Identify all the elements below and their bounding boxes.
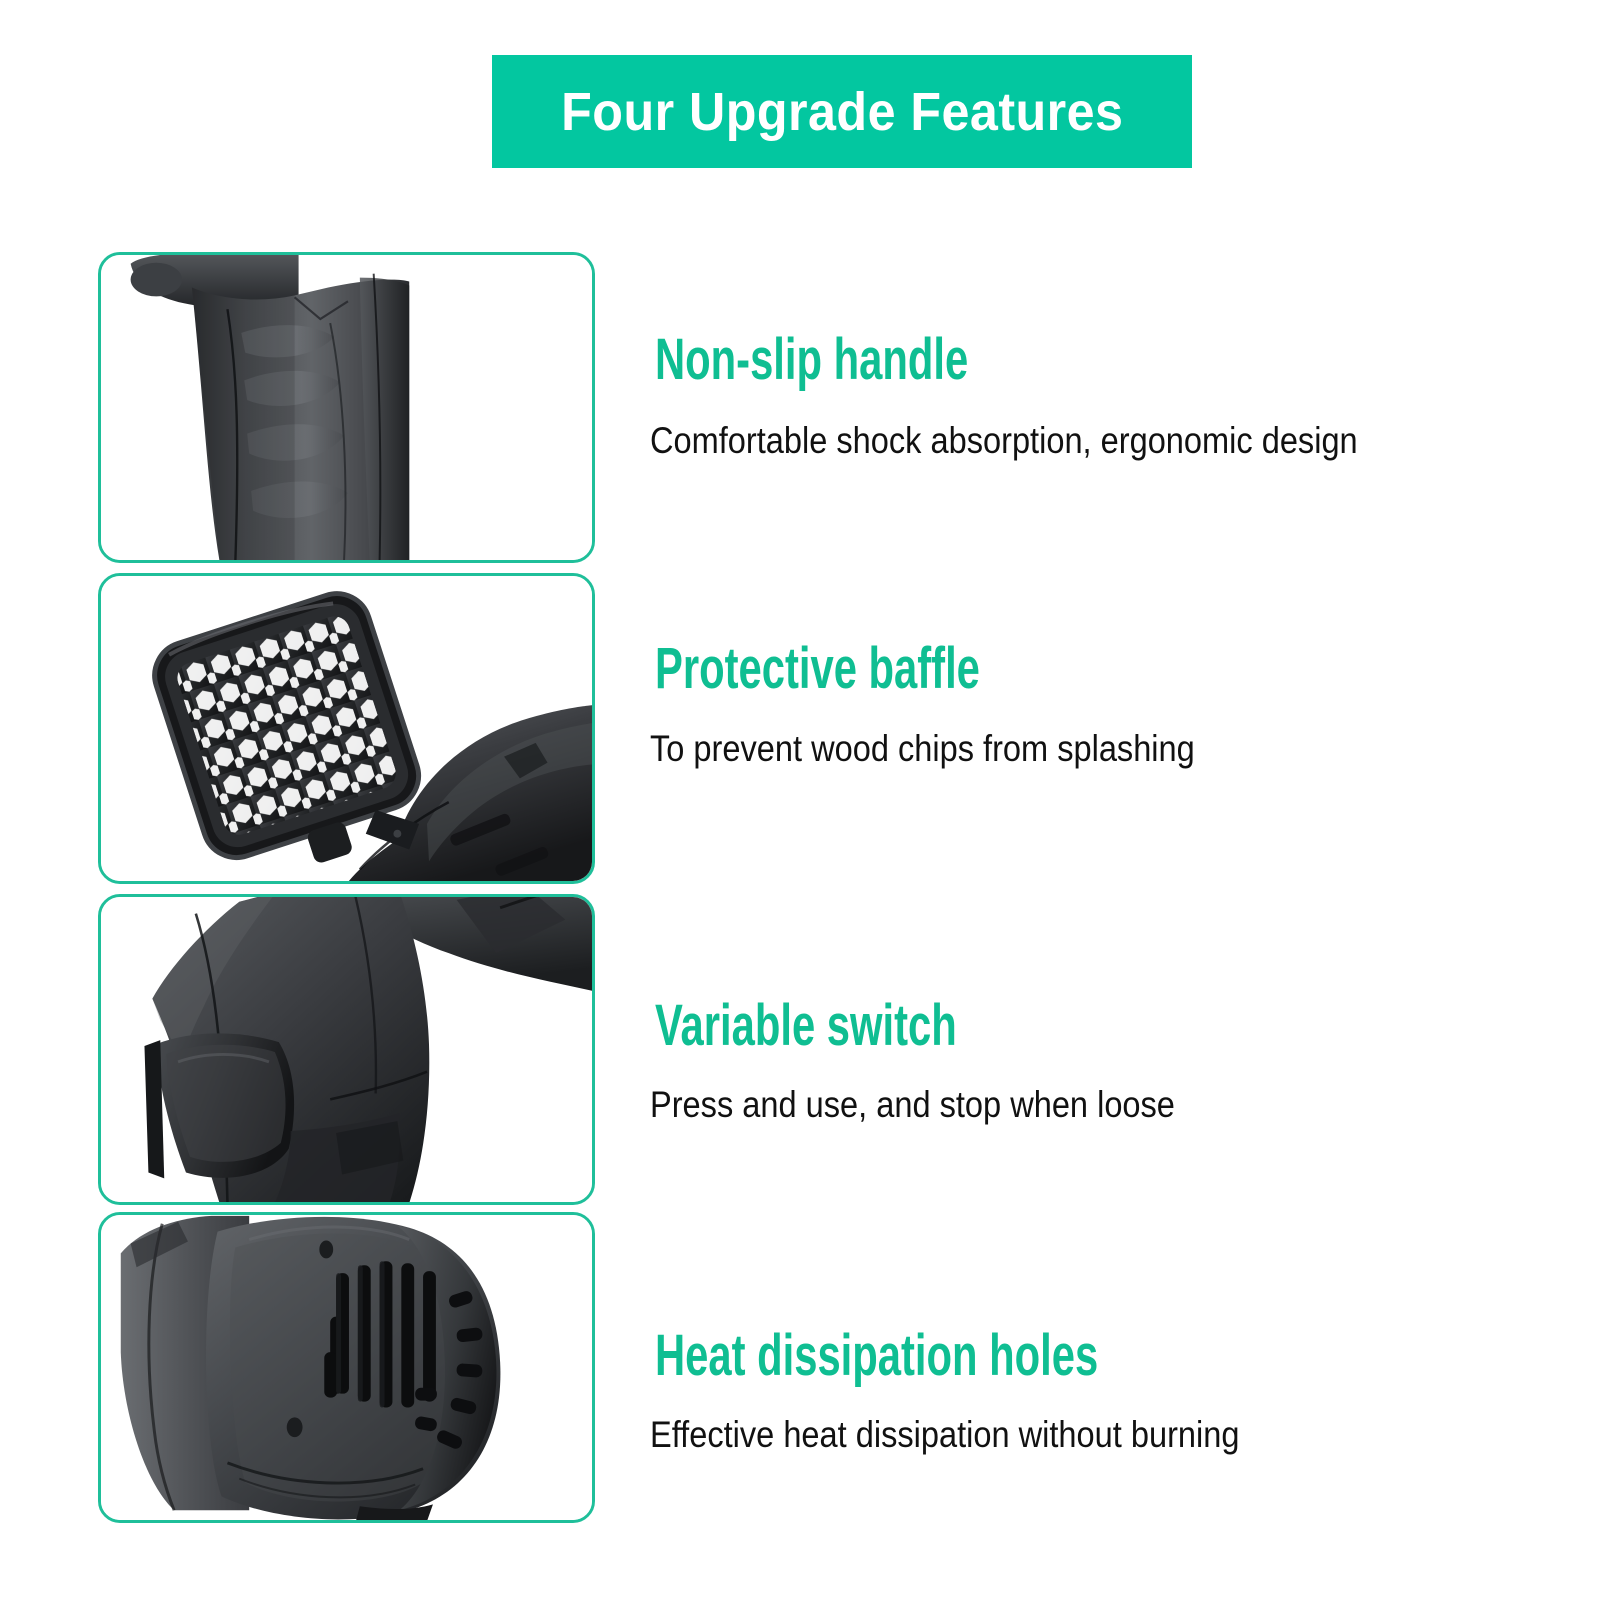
feature-description: Effective heat dissipation without burni…: [650, 1414, 1239, 1456]
feature-row-non-slip-handle: Non-slip handle Comfortable shock absorp…: [0, 252, 1601, 565]
feature-text-variable-switch: Variable switch Press and use, and stop …: [650, 894, 1550, 1205]
feature-image-panel-heat-dissipation-holes: [98, 1212, 595, 1523]
feature-text-non-slip-handle: Non-slip handle Comfortable shock absorp…: [650, 252, 1550, 563]
feature-description: Comfortable shock absorption, ergonomic …: [650, 420, 1358, 462]
feature-title: Heat dissipation holes: [655, 1322, 1098, 1389]
feature-image-panel-protective-baffle: [98, 573, 595, 884]
feature-title: Non-slip handle: [655, 326, 968, 393]
feature-text-protective-baffle: Protective baffle To prevent wood chips …: [650, 573, 1550, 884]
page-title: Four Upgrade Features: [561, 81, 1123, 143]
feature-text-heat-dissipation-holes: Heat dissipation holes Effective heat di…: [650, 1212, 1550, 1523]
feature-row-heat-dissipation-holes: Heat dissipation holes Effective heat di…: [0, 1212, 1601, 1525]
page-title-banner: Four Upgrade Features: [492, 55, 1192, 168]
vents-photo: [101, 1215, 592, 1520]
handle-photo: [101, 255, 592, 560]
feature-title: Variable switch: [655, 992, 957, 1059]
feature-row-protective-baffle: Protective baffle To prevent wood chips …: [0, 573, 1601, 886]
feature-title: Protective baffle: [655, 635, 980, 702]
feature-row-variable-switch: Variable switch Press and use, and stop …: [0, 894, 1601, 1207]
switch-photo: [101, 897, 592, 1202]
baffle-photo: [101, 576, 592, 881]
feature-description: Press and use, and stop when loose: [650, 1084, 1175, 1126]
feature-image-panel-variable-switch: [98, 894, 595, 1205]
feature-description: To prevent wood chips from splashing: [650, 728, 1195, 770]
feature-image-panel-non-slip-handle: [98, 252, 595, 563]
